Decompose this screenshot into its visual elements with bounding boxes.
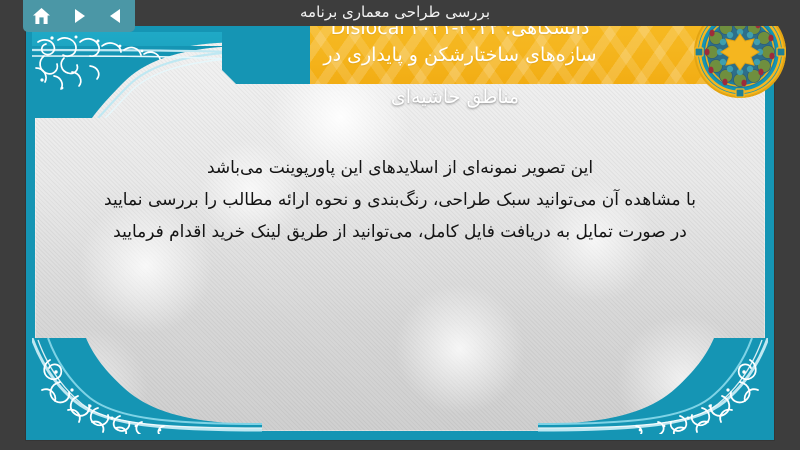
- title-line-3: مناطق حاشیه‌ای: [222, 84, 688, 112]
- triangle-right-icon: [70, 7, 88, 25]
- body-line-1: این تصویر نمونه‌ای از اسلایدهای این پاور…: [44, 152, 756, 184]
- triangle-left-icon: [107, 7, 125, 25]
- viewer-nav-group: [23, 0, 135, 32]
- home-icon: [32, 7, 51, 25]
- arabesque-corner-ornament-bottom-left: [32, 338, 262, 434]
- arabesque-corner-ornament-top-left: [32, 32, 247, 118]
- slide-viewer: این تصویر نمونه‌ای از اسلایدهای این پاور…: [0, 0, 800, 450]
- next-button[interactable]: [65, 3, 93, 29]
- body-line-2: با مشاهده آن می‌توانید سبک طراحی، رنگ‌بن…: [44, 184, 756, 216]
- body-line-3: در صورت تمایل به دریافت فایل کامل، می‌تو…: [44, 216, 756, 248]
- prev-button[interactable]: [102, 3, 130, 29]
- home-button[interactable]: [28, 3, 56, 29]
- arabesque-corner-ornament-bottom-right: [538, 338, 768, 434]
- title-line-2: سازه‌های ساختارشکن و پایداری در: [323, 42, 596, 69]
- slide-body-text: این تصویر نمونه‌ای از اسلایدهای این پاور…: [26, 152, 774, 248]
